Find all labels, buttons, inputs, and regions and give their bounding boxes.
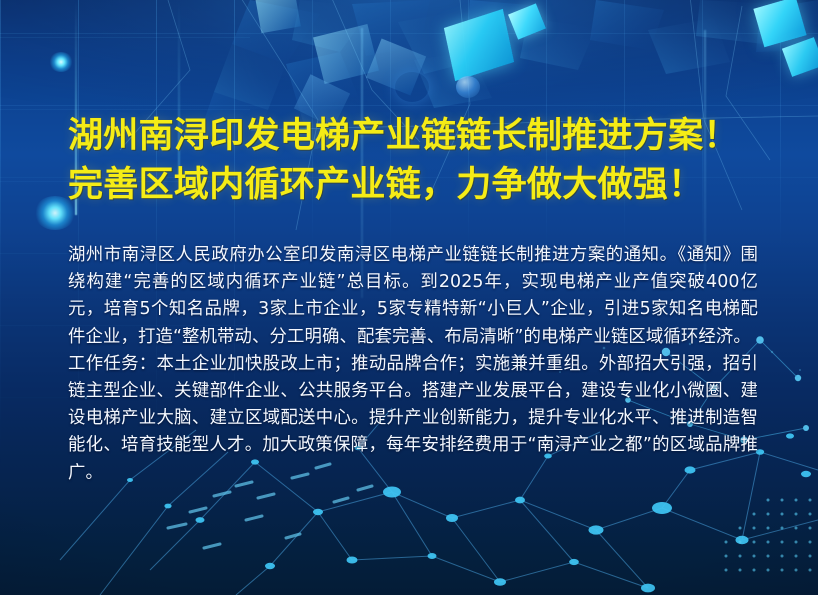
poster-body: 湖州市南浔区人民政府办公室印发南浔区电梯产业链链长制推进方案的通知。《通知》围绕… — [68, 242, 758, 487]
title-line-2: 完善区域内循环产业链，力争做大做强！ — [68, 161, 788, 210]
title-line-1: 湖州南浔印发电梯产业链链长制推进方案！ — [68, 112, 788, 161]
poster-canvas: 湖州南浔印发电梯产业链链长制推进方案！ 完善区域内循环产业链，力争做大做强！ 湖… — [0, 0, 818, 595]
body-paragraph-1: 湖州市南浔区人民政府办公室印发南浔区电梯产业链链长制推进方案的通知。《通知》围绕… — [68, 242, 758, 351]
poster-content: 湖州南浔印发电梯产业链链长制推进方案！ 完善区域内循环产业链，力争做大做强！ 湖… — [0, 0, 818, 595]
body-paragraph-2: 工作任务：本土企业加快股改上市；推动品牌合作；实施兼并重组。外部招大引强，招引链… — [68, 351, 758, 487]
poster-title: 湖州南浔印发电梯产业链链长制推进方案！ 完善区域内循环产业链，力争做大做强！ — [68, 112, 788, 210]
